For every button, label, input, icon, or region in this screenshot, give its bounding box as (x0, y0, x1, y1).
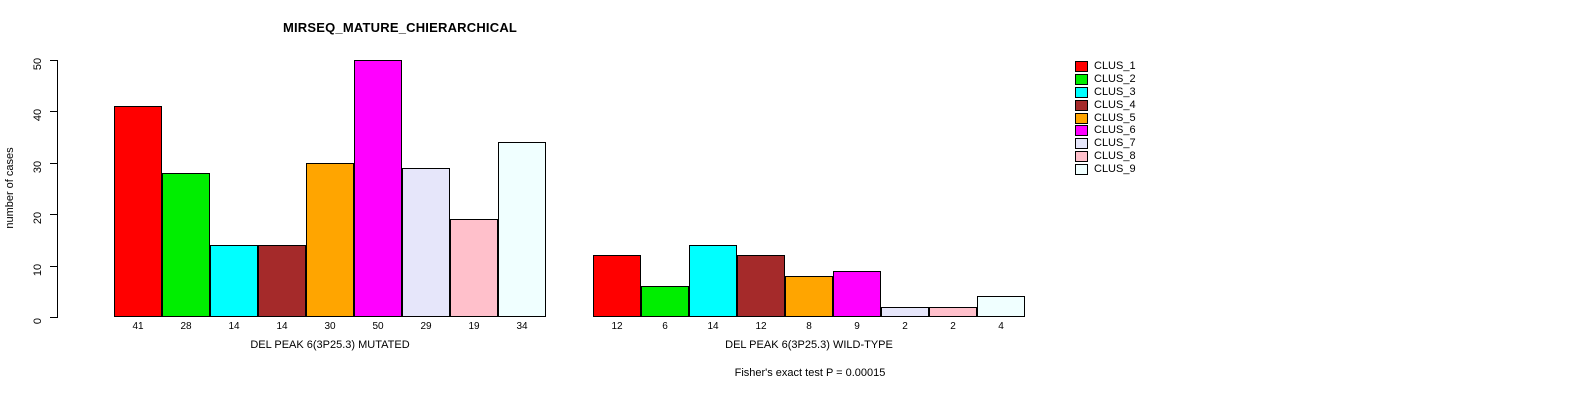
legend-color-swatch (1075, 138, 1088, 149)
bar-value-label: 29 (402, 322, 450, 332)
bar (498, 142, 546, 317)
y-axis-line (57, 60, 58, 318)
y-tick-label: 10 (30, 260, 46, 272)
bar-value-label: 28 (162, 322, 210, 332)
y-tick-mark (50, 214, 57, 215)
legend-item-label: CLUS_6 (1094, 124, 1136, 137)
y-tick-mark (50, 60, 57, 61)
bar (881, 307, 929, 317)
y-tick-mark (50, 111, 57, 112)
y-tick-label: 20 (30, 208, 46, 220)
y-tick-label: 30 (30, 157, 46, 169)
bar-value-label: 2 (929, 322, 977, 332)
bar (593, 255, 641, 317)
bar (641, 286, 689, 317)
bar-value-label: 12 (593, 322, 641, 332)
bar (785, 276, 833, 317)
legend-item-label: CLUS_4 (1094, 99, 1136, 112)
bar (977, 296, 1025, 317)
bar-value-label: 4 (977, 322, 1025, 332)
bar (162, 173, 210, 317)
bar-value-label: 2 (881, 322, 929, 332)
bar-value-label: 14 (258, 322, 306, 332)
y-tick-label-text: 20 (32, 212, 44, 224)
legend-item-label: CLUS_2 (1094, 73, 1136, 86)
bar (689, 245, 737, 317)
bar-value-label: 19 (450, 322, 498, 332)
legend-item-label: CLUS_8 (1094, 150, 1136, 163)
bar-value-label: 14 (689, 322, 737, 332)
legend-color-swatch (1075, 87, 1088, 98)
legend-color-swatch (1075, 125, 1088, 136)
bar (210, 245, 258, 317)
bar (402, 168, 450, 317)
y-tick-label-text: 0 (32, 318, 44, 324)
bar-value-label: 30 (306, 322, 354, 332)
bar (833, 271, 881, 317)
legend-color-swatch (1075, 113, 1088, 124)
y-tick-mark (50, 163, 57, 164)
bar-value-label: 14 (210, 322, 258, 332)
legend-item-label: CLUS_5 (1094, 112, 1136, 125)
bar (258, 245, 306, 317)
bar (929, 307, 977, 317)
legend-color-swatch (1075, 151, 1088, 162)
bar (450, 219, 498, 317)
bar (737, 255, 785, 317)
bar (354, 60, 402, 317)
panel-axis-label: DEL PEAK 6(3P25.3) WILD-TYPE (533, 339, 1085, 351)
legend-color-swatch (1075, 164, 1088, 175)
bar-value-label: 8 (785, 322, 833, 332)
chart-canvas: MIRSEQ_MATURE_CHIERARCHICAL 01020304050 … (0, 0, 1590, 400)
y-tick-mark (50, 317, 57, 318)
panel-axis-label: DEL PEAK 6(3P25.3) MUTATED (54, 339, 606, 351)
legend-color-swatch (1075, 100, 1088, 111)
bar-value-label: 41 (114, 322, 162, 332)
bar-value-label: 50 (354, 322, 402, 332)
legend-color-swatch (1075, 74, 1088, 85)
legend-color-swatch (1075, 61, 1088, 72)
y-tick-label: 40 (30, 105, 46, 117)
bar (306, 163, 354, 317)
y-tick-label-text: 40 (32, 109, 44, 121)
legend-item-label: CLUS_9 (1094, 163, 1136, 176)
bar-value-label: 12 (737, 322, 785, 332)
statistical-test-note: Fisher's exact test P = 0.00015 (595, 367, 1025, 379)
y-tick-label: 0 (30, 311, 46, 323)
bar-value-label: 34 (498, 322, 546, 332)
bar (114, 106, 162, 317)
legend-item-label: CLUS_3 (1094, 86, 1136, 99)
bar-value-label: 6 (641, 322, 689, 332)
legend-item-label: CLUS_7 (1094, 137, 1136, 150)
y-axis-title: number of cases (4, 128, 16, 248)
y-tick-label-text: 50 (32, 58, 44, 70)
chart-title: MIRSEQ_MATURE_CHIERARCHICAL (0, 20, 1590, 35)
bar-value-label: 9 (833, 322, 881, 332)
legend-item-label: CLUS_1 (1094, 60, 1136, 73)
y-tick-label: 50 (30, 54, 46, 66)
y-tick-mark (50, 266, 57, 267)
y-tick-label-text: 10 (32, 263, 44, 275)
y-tick-label-text: 30 (32, 161, 44, 173)
